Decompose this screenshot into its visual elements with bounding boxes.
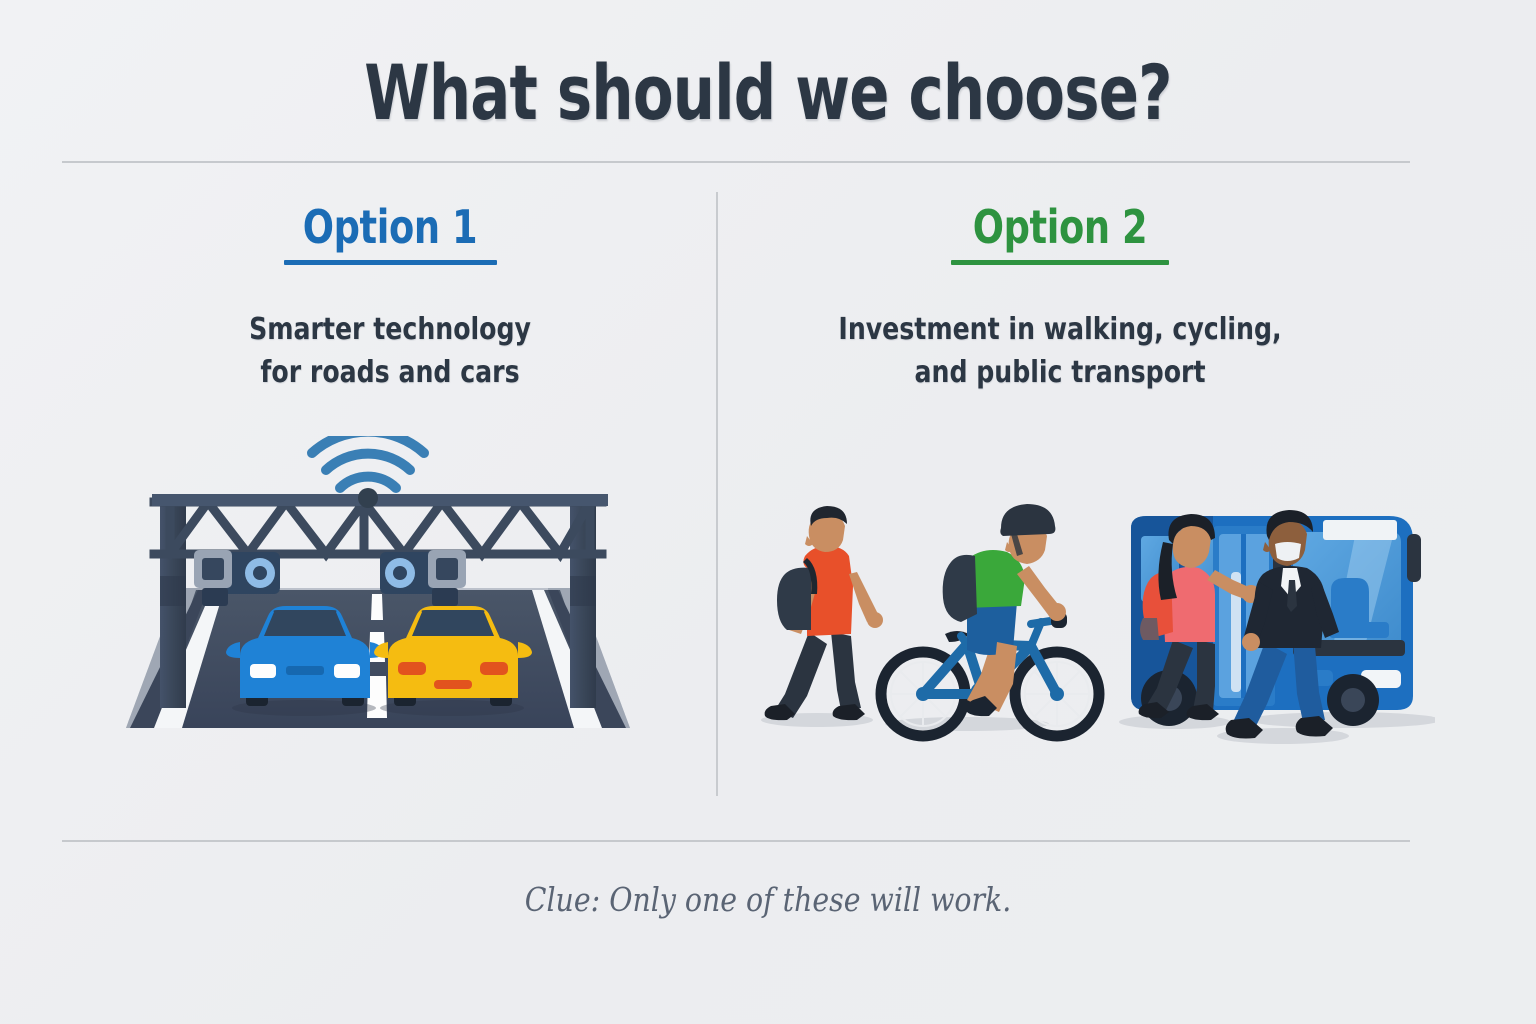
clue-footer: Clue: Only one of these will work. bbox=[108, 880, 1429, 919]
gantry-truss bbox=[154, 502, 602, 554]
cyclist-backpack bbox=[943, 555, 977, 622]
option-1-underline bbox=[284, 260, 497, 265]
option-1-description-line-2: for roads and cars bbox=[130, 352, 651, 395]
smart-road-gantry-illustration bbox=[108, 436, 648, 766]
option-2-description-line-2: and public transport bbox=[791, 352, 1329, 395]
divider-vertical-columns bbox=[716, 192, 718, 796]
divider-bottom bbox=[62, 840, 1410, 842]
option-2-badge: Option 2 bbox=[804, 200, 1316, 254]
headlight-right bbox=[334, 664, 360, 678]
bus-mirror bbox=[1407, 534, 1421, 582]
option-2-column: Option 2 Investment in walking, cycling,… bbox=[740, 200, 1380, 394]
cyclist-helmet bbox=[1000, 504, 1055, 536]
option-1-column: Option 1 Smarter technology for roads an… bbox=[80, 200, 700, 394]
option-2-description-line-1: Investment in walking, cycling, bbox=[791, 309, 1329, 352]
bus-destination-board bbox=[1323, 520, 1397, 540]
face-mask bbox=[1275, 542, 1301, 561]
option-1-description: Smarter technology for roads and cars bbox=[130, 309, 651, 394]
wifi-signal-icon bbox=[312, 436, 424, 488]
walking-person bbox=[765, 506, 883, 720]
option-2-description: Investment in walking, cycling, and publ… bbox=[791, 309, 1329, 394]
headlight-left bbox=[250, 664, 276, 678]
gantry-top-chord bbox=[152, 494, 608, 506]
option-1-badge: Option 1 bbox=[142, 200, 638, 254]
bus-driver-seat bbox=[1331, 578, 1369, 624]
divider-top bbox=[62, 161, 1410, 163]
active-travel-and-bus-illustration bbox=[745, 482, 1435, 782]
taillight-left bbox=[398, 662, 426, 675]
wifi-antenna-base bbox=[358, 488, 378, 508]
option-2-underline bbox=[951, 260, 1169, 265]
page-title: What should we choose? bbox=[169, 48, 1367, 137]
option-1-description-line-1: Smarter technology bbox=[130, 309, 651, 352]
walker-backpack bbox=[777, 568, 811, 630]
taillight-right bbox=[480, 662, 508, 675]
infographic-canvas: What should we choose? Option 1 Smarter … bbox=[0, 0, 1536, 1024]
